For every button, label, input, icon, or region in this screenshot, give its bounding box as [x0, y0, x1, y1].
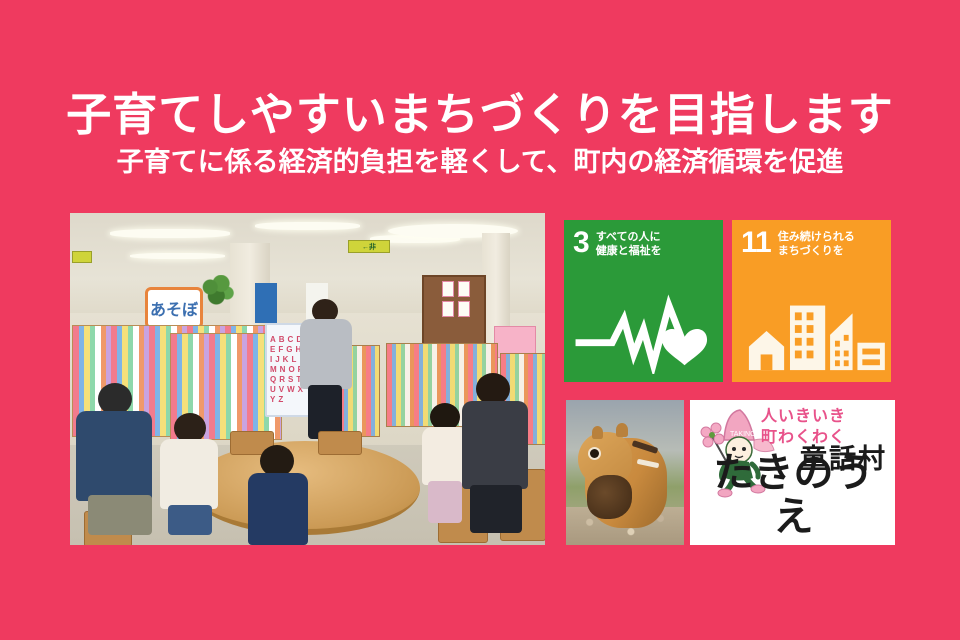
notice-poster [442, 301, 454, 317]
asobo-sign: あそぼ [145, 287, 203, 329]
torso [76, 411, 152, 501]
sdg-number: 11 [741, 228, 771, 258]
town-logo: TAKINOUE 人いきいき 町わくわく 童話村 たきのうえ [690, 400, 895, 545]
chipmunk-ear [616, 423, 628, 437]
notice-poster [458, 281, 470, 297]
sdg-number: 3 [573, 228, 589, 258]
torso [300, 319, 352, 389]
asobo-sign-label: あそぼ [150, 296, 198, 320]
logo-tagline: 人いきいき 町わくわく [761, 406, 889, 448]
sdg-label-line1: すべての人に [596, 230, 662, 244]
person-adult-right [462, 373, 532, 533]
notice-poster [442, 281, 454, 297]
heartbeat-heart-icon [564, 286, 723, 374]
page-title: 子育てしやすいまちづくりを目指します [0, 88, 960, 142]
potted-plant [200, 275, 234, 305]
person-adult-left [76, 383, 158, 533]
sdg-badge-3: 3 すべての人に 健康と福祉を [564, 220, 723, 382]
chipmunk-eye [590, 449, 599, 458]
logo-tagline-line1: 人いきいき [761, 406, 889, 427]
sdg-label: すべての人に 健康と福祉を [596, 228, 662, 258]
slide-root: 子育てしやすいまちづくりを目指します 子育てに係る経済的負担を軽くして、町内の経… [0, 0, 960, 640]
torso [248, 473, 308, 545]
person-child-1 [160, 413, 222, 533]
ceiling-light [130, 253, 225, 259]
ceiling-light [255, 222, 360, 230]
exit-sign: ←非 [348, 240, 390, 253]
person-adult-standing [298, 299, 358, 439]
pine-cone [587, 475, 632, 519]
chipmunk-photo [566, 400, 684, 545]
chipmunk-ear [592, 426, 603, 439]
person-child-2 [248, 445, 310, 545]
legs [428, 481, 462, 523]
sdg-label-line2: 健康と福祉を [596, 244, 662, 258]
notice-poster [458, 301, 470, 317]
sdg-label-line2: まちづくりを [778, 244, 855, 258]
headline-block: 子育てしやすいまちづくりを目指します 子育てに係る経済的負担を軽くして、町内の経… [0, 88, 960, 179]
sdg-label-line1: 住み続けられる [778, 230, 855, 244]
city-buildings-icon [732, 286, 891, 374]
sdg-heading: 3 すべての人に 健康と福祉を [573, 228, 717, 258]
legs [88, 495, 152, 535]
page-subtitle: 子育てに係る経済的負担を軽くして、町内の経済循環を促進 [0, 146, 960, 179]
sdg-badge-11: 11 住み続けられる まちづくりを [732, 220, 891, 382]
blue-poster [255, 283, 277, 323]
ceiling-light [110, 229, 230, 238]
legs [168, 505, 212, 535]
torso [462, 401, 528, 489]
sdg-label: 住み続けられる まちづくりを [778, 228, 855, 258]
torso [160, 439, 218, 509]
legs [470, 485, 522, 533]
logo-word-main: たきのうえ [700, 451, 887, 539]
library-photo: ←非 あそぼ ABCDEFGHIJKLMNOPQRSTUVWXYZ [70, 213, 545, 545]
exit-sign [72, 251, 92, 263]
chair [318, 431, 362, 455]
sdg-heading: 11 住み続けられる まちづくりを [741, 228, 885, 258]
